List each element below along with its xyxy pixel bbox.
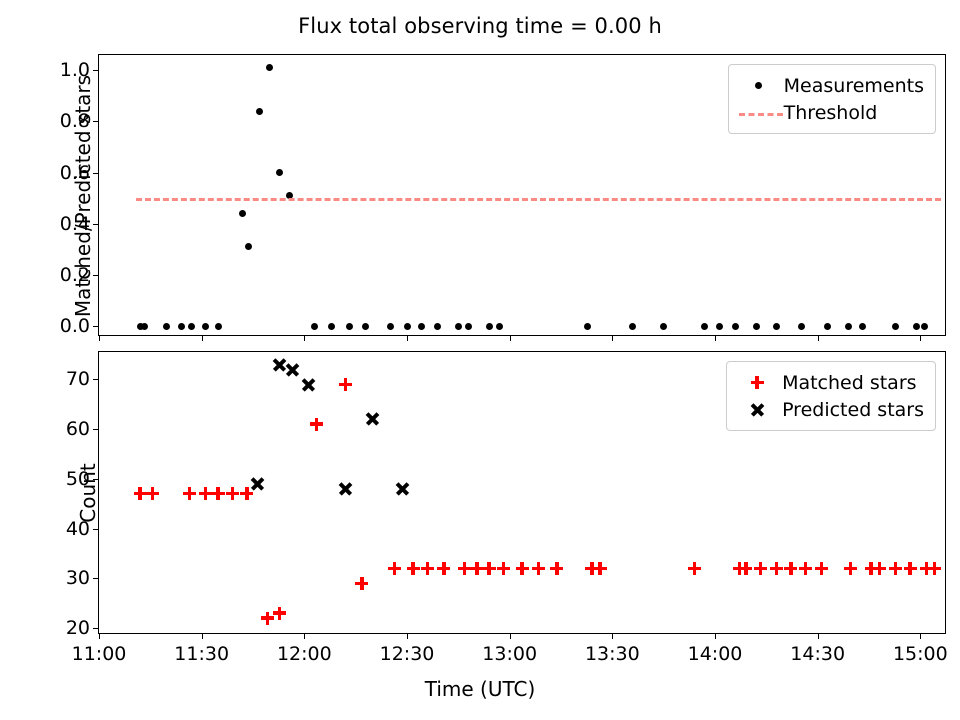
measurement-point xyxy=(215,323,222,330)
x-tick-label: 14:00 xyxy=(688,643,743,665)
measurement-point xyxy=(773,323,780,330)
measurement-point xyxy=(798,323,805,330)
threshold-dashed-line-icon xyxy=(738,103,784,123)
measurement-point xyxy=(824,323,831,330)
x-tick-mark xyxy=(715,633,716,639)
x-tick-label: 12:30 xyxy=(380,643,435,665)
measurement-point xyxy=(178,323,185,330)
x-tick-mark xyxy=(407,335,408,341)
legend-label-threshold: Threshold xyxy=(784,102,878,124)
measurement-point xyxy=(716,323,723,330)
x-tick-mark xyxy=(920,633,921,639)
x-tick-mark xyxy=(99,335,100,341)
threshold-line xyxy=(136,198,941,201)
x-tick-mark xyxy=(304,633,305,639)
measurement-point xyxy=(629,323,636,330)
x-tick-mark xyxy=(407,633,408,639)
legend-label-predicted-stars: Predicted stars xyxy=(782,399,924,421)
x-tick-mark xyxy=(715,335,716,341)
x-tick-mark xyxy=(99,633,100,639)
y-tick-label: 70 xyxy=(66,368,90,390)
y-tick-label: 0.8 xyxy=(60,110,90,132)
measurement-point xyxy=(362,323,369,330)
x-tick-mark xyxy=(818,633,819,639)
y-tick-label: 0.0 xyxy=(60,315,90,337)
y-tick-label: 60 xyxy=(66,418,90,440)
x-tick-mark xyxy=(510,335,511,341)
measurement-point xyxy=(455,323,462,330)
measurement-point xyxy=(311,323,318,330)
legend-item-threshold[interactable]: Threshold xyxy=(738,99,924,126)
measurements-dot-icon xyxy=(738,76,784,96)
x-tick-mark xyxy=(510,633,511,639)
x-tick-mark xyxy=(612,335,613,341)
measurement-point xyxy=(701,323,708,330)
measurement-point xyxy=(266,64,273,71)
x-axis-label: Time (UTC) xyxy=(0,677,960,701)
x-tick-label: 15:00 xyxy=(893,643,948,665)
measurement-point xyxy=(188,323,195,330)
measurement-point xyxy=(387,323,394,330)
y-tick-label: 30 xyxy=(66,567,90,589)
measurement-point xyxy=(202,323,209,330)
measurement-point xyxy=(276,169,283,176)
legend-label-matched-stars: Matched stars xyxy=(782,372,916,394)
legend-item-predicted-stars[interactable]: Predicted stars xyxy=(736,396,924,423)
measurement-point xyxy=(346,323,353,330)
legend-item-matched-stars[interactable]: Matched stars xyxy=(736,369,924,396)
y-tick-label: 0.6 xyxy=(60,162,90,184)
y-tick-label: 0.2 xyxy=(60,264,90,286)
measurement-point xyxy=(465,323,472,330)
ratio-panel-axes: Matched/Predicted stars 0.00.20.40.60.81… xyxy=(98,54,946,336)
x-tick-mark xyxy=(920,335,921,341)
measurement-point xyxy=(256,108,263,115)
y-tick-label: 20 xyxy=(66,617,90,639)
matched-stars-plus-icon xyxy=(736,373,782,393)
y-tick-label: 0.4 xyxy=(60,213,90,235)
x-tick-label: 13:00 xyxy=(482,643,537,665)
legend-label-measurements: Measurements xyxy=(784,75,924,97)
measurement-point xyxy=(328,323,335,330)
measurement-point xyxy=(753,323,760,330)
legend-item-measurements[interactable]: Measurements xyxy=(738,72,924,99)
x-tick-label: 13:30 xyxy=(585,643,640,665)
count-panel-axes: Count 203040506070 11:0011:3012:0012:301… xyxy=(98,351,946,634)
measurement-point xyxy=(584,323,591,330)
measurement-point xyxy=(921,323,928,330)
x-tick-mark xyxy=(304,335,305,341)
x-tick-label: 14:30 xyxy=(790,643,845,665)
measurement-point xyxy=(239,210,246,217)
measurement-point xyxy=(245,243,252,250)
x-tick-mark xyxy=(818,335,819,341)
x-tick-mark xyxy=(202,633,203,639)
x-tick-mark xyxy=(202,335,203,341)
measurement-point xyxy=(141,323,148,330)
measurement-point xyxy=(163,323,170,330)
measurement-point xyxy=(845,323,852,330)
y-tick-label: 1.0 xyxy=(60,59,90,81)
y-tick-label: 40 xyxy=(66,518,90,540)
predicted-stars-cross-icon xyxy=(736,400,782,420)
measurement-point xyxy=(418,323,425,330)
ratio-panel-ylabel: Matched/Predicted stars xyxy=(71,36,95,356)
measurement-point xyxy=(486,323,493,330)
y-tick-label: 50 xyxy=(66,468,90,490)
measurement-point xyxy=(404,323,411,330)
measurement-point xyxy=(913,323,920,330)
measurement-point xyxy=(660,323,667,330)
measurement-point xyxy=(892,323,899,330)
count-panel-legend[interactable]: Matched stars Predicted stars xyxy=(726,361,936,431)
x-tick-mark xyxy=(612,633,613,639)
page-title: Flux total observing time = 0.00 h xyxy=(0,14,960,38)
x-tick-label: 11:00 xyxy=(72,643,127,665)
figure-canvas: Flux total observing time = 0.00 h Match… xyxy=(0,0,960,720)
x-tick-label: 11:30 xyxy=(174,643,229,665)
ratio-panel-legend[interactable]: Measurements Threshold xyxy=(728,64,936,134)
measurement-point xyxy=(859,323,866,330)
measurement-point xyxy=(434,323,441,330)
x-tick-label: 12:00 xyxy=(277,643,332,665)
measurement-point xyxy=(496,323,503,330)
measurement-point xyxy=(732,323,739,330)
